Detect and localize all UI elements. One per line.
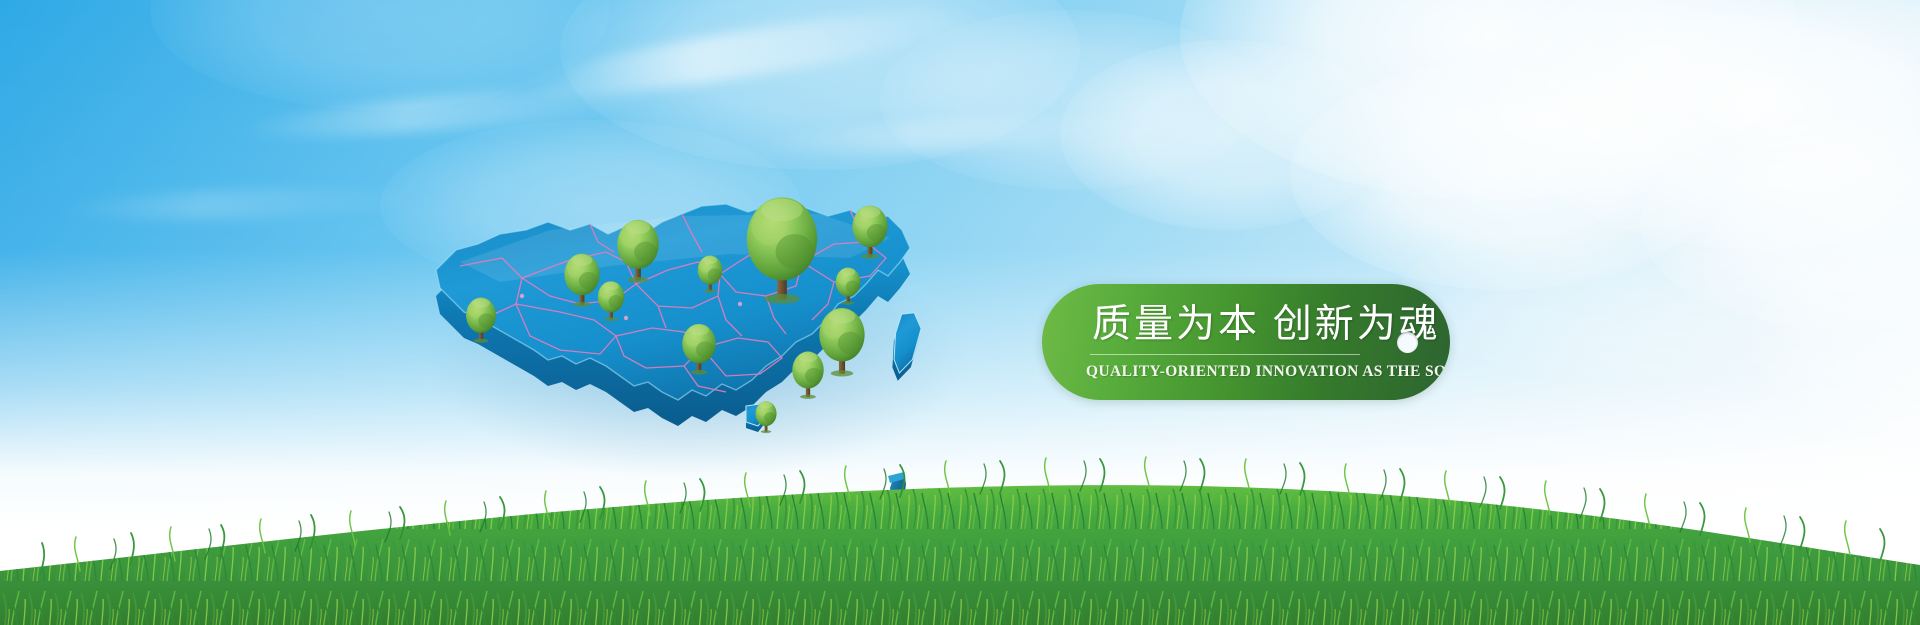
badge-hole-icon [1397,332,1418,353]
slogan-subtitle-en: QUALITY-ORIENTED INNOVATION AS THE SOUL [1086,363,1362,381]
map-fragments [880,470,1000,600]
china-3d-map [430,200,960,500]
slogan-title-cn: 质量为本 创新为魂 [1086,303,1362,347]
slogan-divider [1090,354,1360,355]
slogan-badge[interactable]: 质量为本 创新为魂 QUALITY-ORIENTED INNOVATION AS… [1042,284,1450,400]
slogan-badge-content: 质量为本 创新为魂 QUALITY-ORIENTED INNOVATION AS… [1086,298,1362,386]
hero-banner: 质量为本 创新为魂 QUALITY-ORIENTED INNOVATION AS… [0,0,1920,625]
